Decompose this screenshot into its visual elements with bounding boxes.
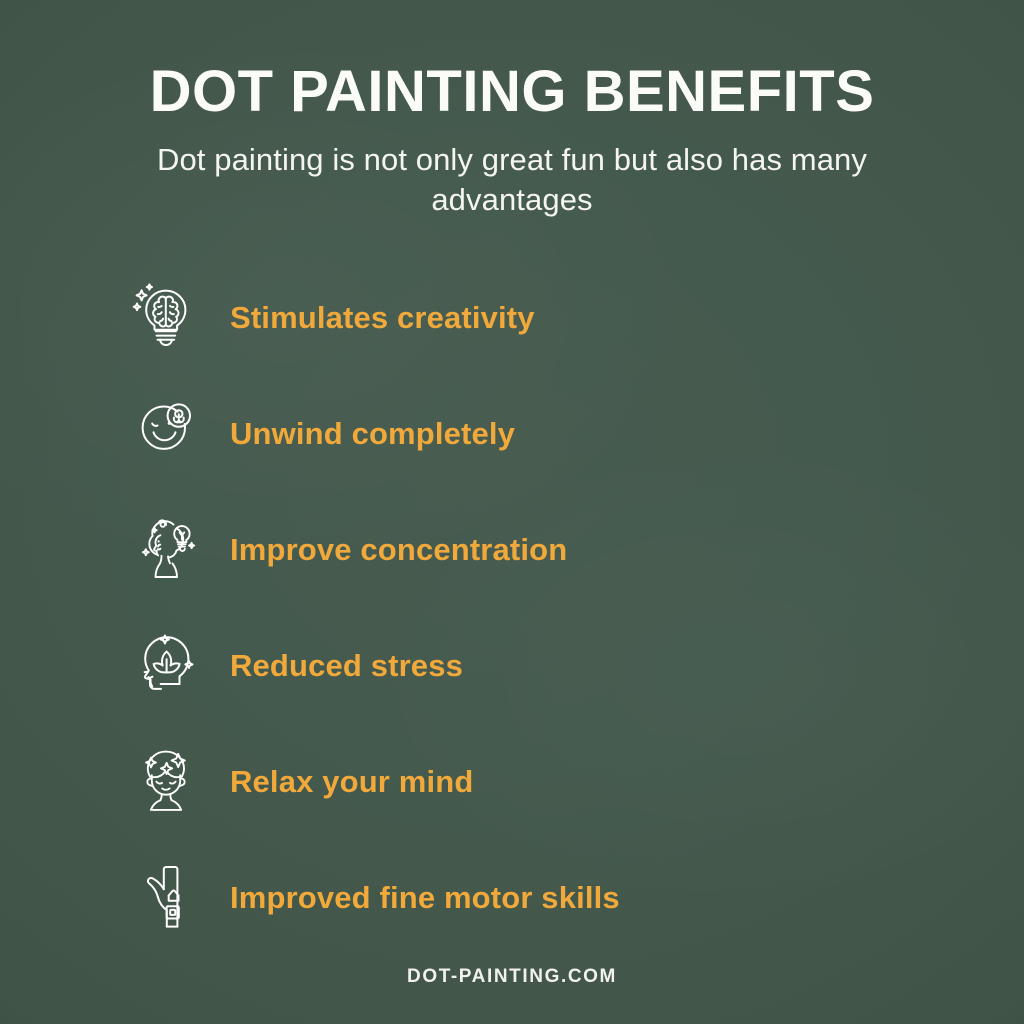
brain-lightbulb-icon xyxy=(128,275,204,359)
benefits-list: Stimulates creativity xyxy=(128,272,928,942)
page-subtitle: Dot painting is not only great fun but a… xyxy=(142,140,882,219)
list-item: Relax your mind xyxy=(128,736,928,826)
list-item: Reduced stress xyxy=(128,620,928,710)
relaxed-face-sparkles-icon xyxy=(128,739,204,823)
list-item: Improved fine motor skills xyxy=(128,852,928,942)
hand-holding-object-icon xyxy=(128,855,204,939)
list-item: Improve concentration xyxy=(128,504,928,594)
benefit-label: Stimulates creativity xyxy=(230,302,535,333)
page-title: DOT PAINTING BENEFITS xyxy=(0,62,1024,123)
infographic-poster: DOT PAINTING BENEFITS Dot painting is no… xyxy=(0,0,1024,1024)
benefit-label: Relax your mind xyxy=(230,766,473,797)
website-url: DOT-PAINTING.COM xyxy=(407,966,617,987)
poster-header: DOT PAINTING BENEFITS Dot painting is no… xyxy=(0,62,1024,219)
benefit-label: Improved fine motor skills xyxy=(230,882,620,913)
benefit-label: Improve concentration xyxy=(230,534,567,565)
benefit-label: Unwind completely xyxy=(230,418,515,449)
list-item: Stimulates creativity xyxy=(128,272,928,362)
winking-face-flower-icon xyxy=(128,391,204,475)
head-lotus-icon xyxy=(128,623,204,707)
benefit-label: Reduced stress xyxy=(230,650,463,681)
poster-footer: DOT-PAINTING.COM xyxy=(0,966,1024,988)
list-item: Unwind completely xyxy=(128,388,928,478)
woman-head-lightbulb-icon xyxy=(128,507,204,591)
